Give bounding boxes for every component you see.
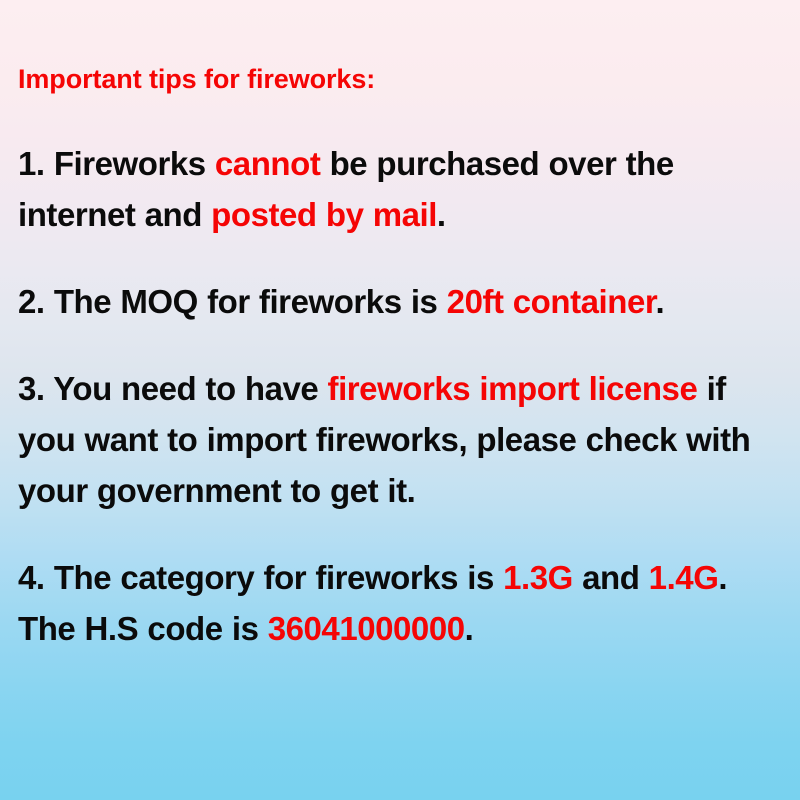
body-text: 2. The MOQ for fireworks is (18, 283, 447, 320)
list-item: 4. The category for fireworks is 1.3G an… (18, 552, 772, 654)
highlighted-text: cannot (215, 145, 320, 182)
list-item: 1. Fireworks cannot be purchased over th… (18, 138, 772, 240)
body-text: and (573, 559, 649, 596)
list-item: 2. The MOQ for fireworks is 20ft contain… (18, 276, 772, 327)
page-title: Important tips for fireworks: (18, 62, 772, 96)
highlighted-text: posted by mail (211, 196, 437, 233)
tips-list: 1. Fireworks cannot be purchased over th… (18, 138, 772, 654)
highlighted-text: 36041000000 (268, 610, 465, 647)
body-text: . (465, 610, 474, 647)
highlighted-text: 20ft container (447, 283, 656, 320)
list-item: 3. You need to have fireworks import lic… (18, 363, 772, 516)
highlighted-text: fireworks import license (328, 370, 698, 407)
highlighted-text: 1.4G (649, 559, 719, 596)
body-text: 3. You need to have (18, 370, 328, 407)
body-text: 1. Fireworks (18, 145, 215, 182)
fireworks-tips-card: Important tips for fireworks: 1. Firewor… (0, 0, 800, 800)
body-text: . (655, 283, 664, 320)
body-text: 4. The category for fireworks is (18, 559, 503, 596)
body-text: . (437, 196, 446, 233)
highlighted-text: 1.3G (503, 559, 573, 596)
